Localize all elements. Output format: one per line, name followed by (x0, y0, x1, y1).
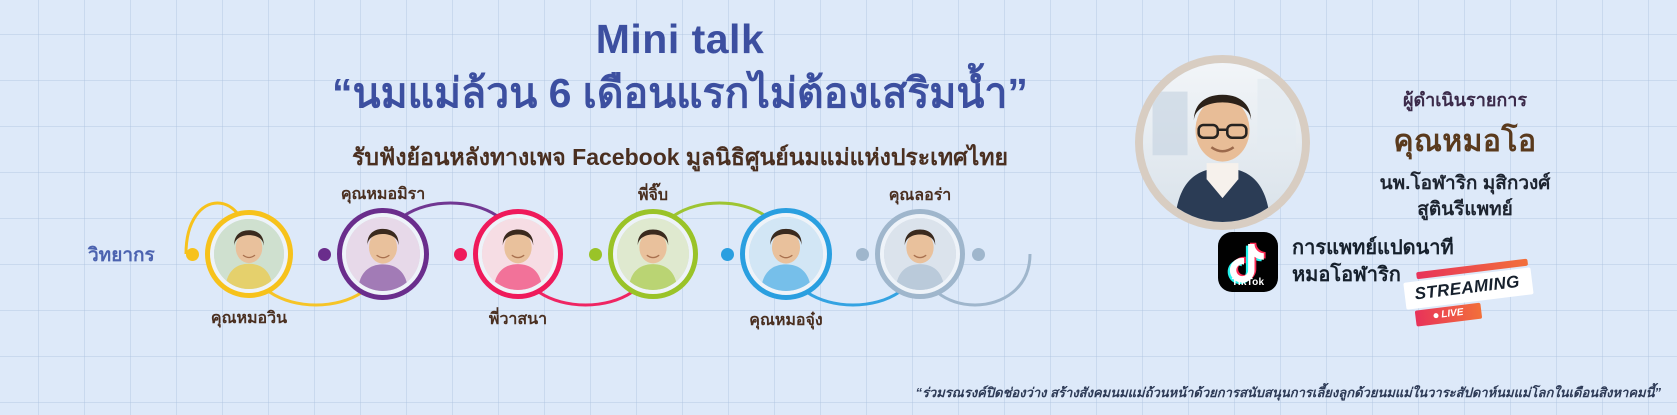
channel-name-line1: การแพทย์แปดนาที (1292, 235, 1454, 262)
live-dot-icon (1433, 313, 1439, 319)
speaker-avatar-ring (608, 209, 698, 299)
speaker-portrait-icon (482, 218, 554, 290)
tiktok-icon[interactable]: TikTok (1218, 232, 1278, 292)
headline-block: Mini talk “นมแม่ล้วน 6 เดือนแรกไม่ต้องเส… (180, 16, 1180, 176)
speaker-avatar-ring (337, 208, 429, 300)
connector-dot (721, 248, 734, 261)
host-fullname: นพ.โอฬาริก มุสิกวงศ์ สูตินรีแพทย์ (1320, 171, 1610, 222)
connector-dot (186, 248, 199, 261)
campaign-note: “ร่วมรณรงค์ปิดช่องว่าง สร้างสังคมนมแม่ถ้… (915, 382, 1661, 403)
speaker-name-label: คุณหมอมิรา (341, 182, 425, 207)
avatar (214, 219, 284, 289)
avatar (749, 217, 823, 291)
avatar (884, 218, 956, 290)
host-role-label: ผู้ดำเนินรายการ (1320, 85, 1610, 114)
host-specialty: สูตินรีแพทย์ (1320, 197, 1610, 223)
speakers-row: วิทยากร คุณหมอวินคุณหมอมิราพี่วาสนาพี่จิ… (0, 182, 1060, 342)
speaker-portrait-icon (346, 217, 420, 291)
speaker-portrait-icon (884, 218, 956, 290)
avatar (1143, 63, 1302, 222)
connector-dot (589, 248, 602, 261)
connector-dot (318, 248, 331, 261)
host-text-block: ผู้ดำเนินรายการ คุณหมอโอ นพ.โอฬาริก มุสิ… (1320, 85, 1610, 222)
speaker-avatar-ring (740, 208, 832, 300)
speaker-node[interactable]: คุณลอร่า (875, 182, 965, 272)
speaker-portrait-icon (617, 218, 689, 290)
speaker-name-label: คุณลอร่า (889, 183, 952, 208)
host-portrait-icon (1143, 63, 1302, 222)
speaker-name-label: พี่จิ๊บ (638, 183, 668, 208)
host-nickname: คุณหมอโอ (1320, 118, 1610, 165)
promo-banner: Mini talk “นมแม่ล้วน 6 เดือนแรกไม่ต้องเส… (0, 0, 1677, 415)
speaker-node[interactable]: คุณหมอวิน (205, 182, 293, 270)
connector-dot (972, 248, 985, 261)
speaker-portrait-icon (214, 219, 284, 289)
avatar (482, 218, 554, 290)
speaker-avatar-ring (205, 210, 293, 298)
speaker-node[interactable]: คุณหมอจุ๋ง (740, 182, 832, 274)
speaker-node[interactable]: พี่วาสนา (473, 182, 563, 272)
speaker-node[interactable]: คุณหมอมิรา (337, 182, 429, 274)
talk-topic-quote: “นมแม่ล้วน 6 เดือนแรกไม่ต้องเสริมน้ำ” (180, 67, 1180, 120)
tiktok-wordmark: TikTok (1218, 277, 1278, 288)
avatar (346, 217, 420, 291)
host-avatar-ring (1135, 55, 1310, 230)
speaker-portrait-icon (749, 217, 823, 291)
connector-dot (454, 248, 467, 261)
avatar (617, 218, 689, 290)
speaker-node[interactable]: พี่จิ๊บ (608, 182, 698, 272)
connector-dot (856, 248, 869, 261)
speaker-avatar-ring (473, 209, 563, 299)
live-label: LIVE (1441, 307, 1464, 321)
speaker-avatar-ring (875, 209, 965, 299)
host-fullname-line: นพ.โอฬาริก มุสิกวงศ์ (1320, 171, 1610, 197)
page-title: Mini talk (180, 16, 1180, 63)
